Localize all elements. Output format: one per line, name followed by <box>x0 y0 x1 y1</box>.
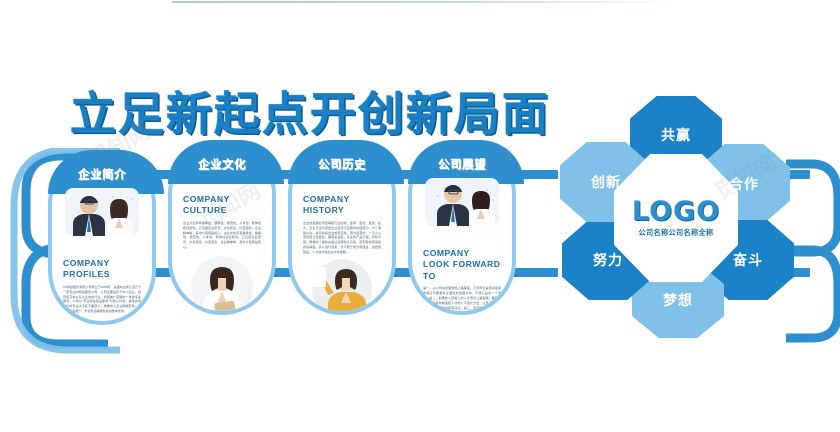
page-title: 立足新起点开创新局面 <box>0 78 620 144</box>
card-2-photo <box>191 256 253 311</box>
hexagon-bottom-label: 梦想 <box>663 290 693 310</box>
card-3-body: 企业的发展必须经得起行业的新、变革、变化、变质，在大、及生与生与经经企业营对行业… <box>303 221 381 255</box>
top-divider-rule <box>172 1 672 3</box>
info-card-company-look-forward[interactable]: 公司展望 <box>408 140 516 315</box>
card-2-en-line2: CULTURE <box>183 205 261 216</box>
card-4-en-line1: COMPANY <box>423 248 501 259</box>
hexagon-top-label: 共赢 <box>661 125 691 145</box>
card-4-photo <box>425 178 499 226</box>
card-4-body: 第一，从公司将发展到规上路程度，不管阿位是否具备条件前应环都要有全面性的发展方向… <box>423 286 501 311</box>
logo-text: LOGO <box>632 198 720 225</box>
hexagon-cluster: 共赢 合作 奋斗 梦想 努力 创新 LOGO 公司名称公司名称全称 <box>552 96 800 336</box>
info-card-company-history[interactable]: 公司历史 COMPANY HISTORY 企业的发展必须经得起行业的新、变革、变… <box>288 140 396 315</box>
hexagon-right-bottom-label: 奋斗 <box>733 250 763 270</box>
poster-canvas: 立足新起点开创新局面 企业简介 <box>0 0 840 432</box>
card-2-title-cn: 企业文化 <box>183 156 261 172</box>
card-4-en-line2: LOOK FORWARD TO <box>423 259 501 282</box>
card-1-title-cn: 企业简介 <box>63 166 141 182</box>
card-2-en-line1: COMPANY <box>183 194 261 205</box>
info-card-company-culture[interactable]: 企业文化 COMPANY CULTURE 企业文化具有独特性、继承性、规范性、人… <box>168 140 276 315</box>
card-1-en-line2: PROFILES <box>63 269 141 280</box>
card-3-en-line1: COMPANY <box>303 194 381 205</box>
card-1-en-line1: COMPANY <box>63 258 141 269</box>
connector-bar-4-bottom <box>510 268 558 277</box>
card-3-en-line2: HISTORY <box>303 205 381 216</box>
card-1-photo <box>65 188 139 236</box>
card-2-body: 企业文化具有独特性、继承性、规范性、人本性、整体性和创新性。它包括企业愿景、文化… <box>183 221 261 251</box>
card-1-body: XX科技股份有限公司成立于2008年，是面向全球几百万十一家专业的网站服务公司。… <box>63 285 141 315</box>
hexagon-center-logo[interactable]: LOGO 公司名称公司名称全称 <box>614 154 738 282</box>
info-card-company-profiles[interactable]: 企业简介 <box>48 150 156 325</box>
hexagon-left-bottom-label: 努力 <box>593 250 623 270</box>
card-4-title-cn: 公司展望 <box>423 156 501 172</box>
card-3-photo <box>312 259 372 311</box>
logo-subtitle: 公司名称公司名称全称 <box>639 228 714 238</box>
card-3-title-cn: 公司历史 <box>303 156 381 172</box>
